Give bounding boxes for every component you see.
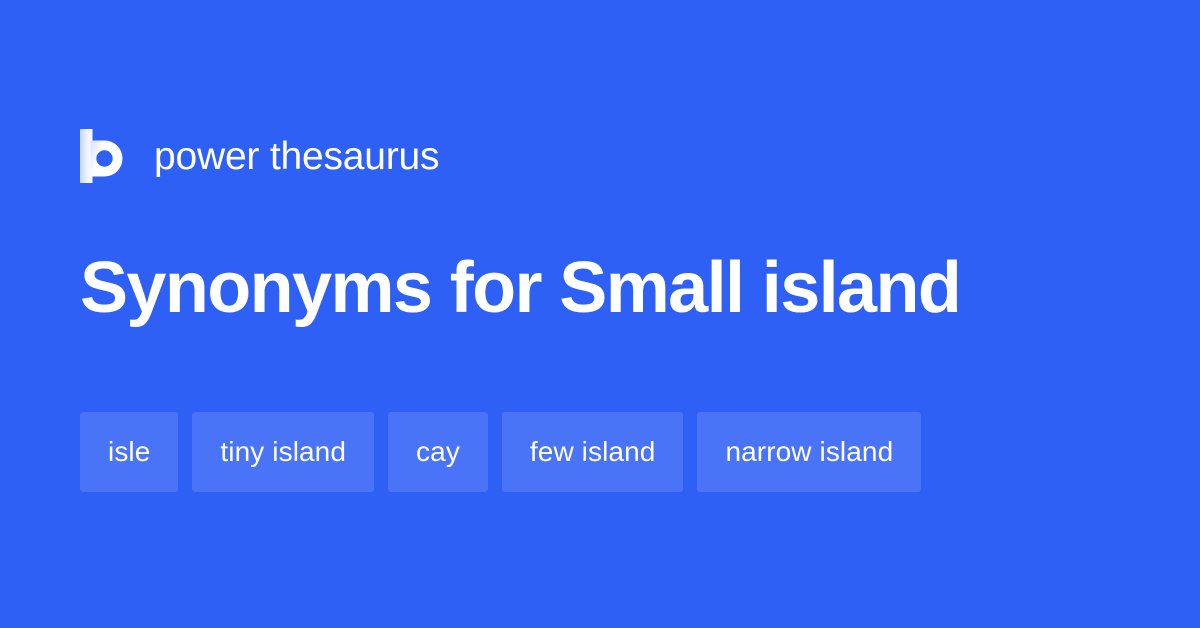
synonym-chip[interactable]: cay [388,412,488,492]
synonym-chip[interactable]: isle [80,412,178,492]
synonym-chip[interactable]: few island [502,412,684,492]
brand-lockup[interactable]: power thesaurus [80,126,439,186]
synonym-chip[interactable]: narrow island [697,412,921,492]
brand-name: power thesaurus [154,137,439,176]
synonym-chip[interactable]: tiny island [192,412,374,492]
share-card: power thesaurus Synonyms for Small islan… [0,0,1200,628]
page-title: Synonyms for Small island [80,252,1130,324]
power-thesaurus-b-logo-icon [80,129,126,183]
synonym-chip-list: isle tiny island cay few island narrow i… [80,412,921,492]
